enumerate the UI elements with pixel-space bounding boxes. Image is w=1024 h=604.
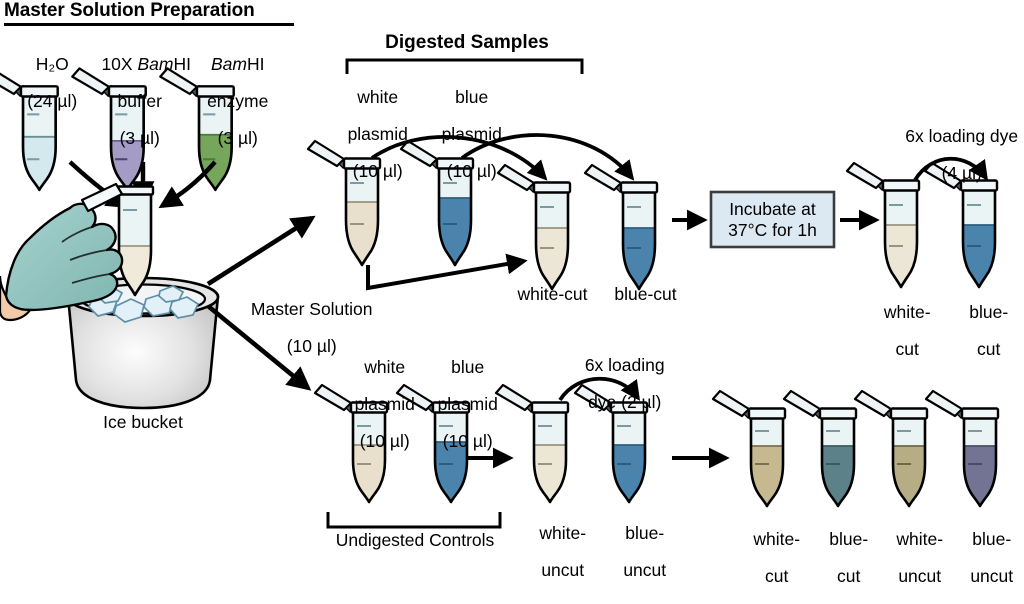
page-title: Master Solution Preparation (4, 0, 255, 22)
label-final-blue-cut-top: blue- cut (939, 284, 1019, 377)
reagent-label-enzyme: BamHI enzyme (3 µl) (180, 36, 276, 166)
ice-bucket-label: Ice bucket (78, 413, 208, 432)
master-to-cut-arrow (368, 261, 524, 288)
diagram-canvas: Master Solution Preparation H₂O (24 µl) … (0, 0, 1024, 559)
label-blue-uncut: blue- uncut (588, 505, 682, 598)
label-final-tube-4: blue- uncut (938, 511, 1024, 604)
reagent-label-buffer: 10X BamHI buffer (3 µl) (82, 36, 178, 166)
tube-blue-cut-mid (585, 165, 660, 298)
loading-dye-label-bottom: 6x loading dye (2 µl) (545, 337, 685, 430)
label-white-cut-mid: white-cut (500, 285, 605, 304)
label-blue-cut-mid: blue-cut (598, 285, 693, 304)
tube-final-white-cut (713, 391, 788, 516)
digested-source-label-white: white plasmid (10 µl) (318, 69, 418, 199)
undigested-controls-bracket (328, 512, 500, 527)
reagent-enzyme-line1: BamHI (211, 54, 264, 74)
reagent-label-h2o: H₂O (24 µl) (0, 36, 85, 129)
tube-final-blue-cut (784, 391, 859, 516)
digested-samples-label: Digested Samples (372, 33, 562, 53)
reagent-buffer-line1: 10X BamHI (101, 54, 190, 74)
tube-final-blue-uncut (926, 391, 1001, 516)
loading-dye-label-top: 6x loading dye (4 µl) (880, 108, 1024, 201)
label-final-white-cut-top: white- cut (855, 284, 940, 377)
undigested-source-label-blue: blue plasmid (10 µl) (408, 339, 508, 469)
title-underline (4, 23, 294, 26)
tube-final-white-uncut (855, 391, 930, 516)
digested-source-label-blue: blue plasmid (10 µl) (412, 69, 512, 199)
incubate-box-text: Incubate at 37°C for 1h (711, 192, 834, 247)
ice-bucket-assembly (0, 184, 218, 408)
undigested-controls-label: Undigested Controls (312, 531, 518, 550)
